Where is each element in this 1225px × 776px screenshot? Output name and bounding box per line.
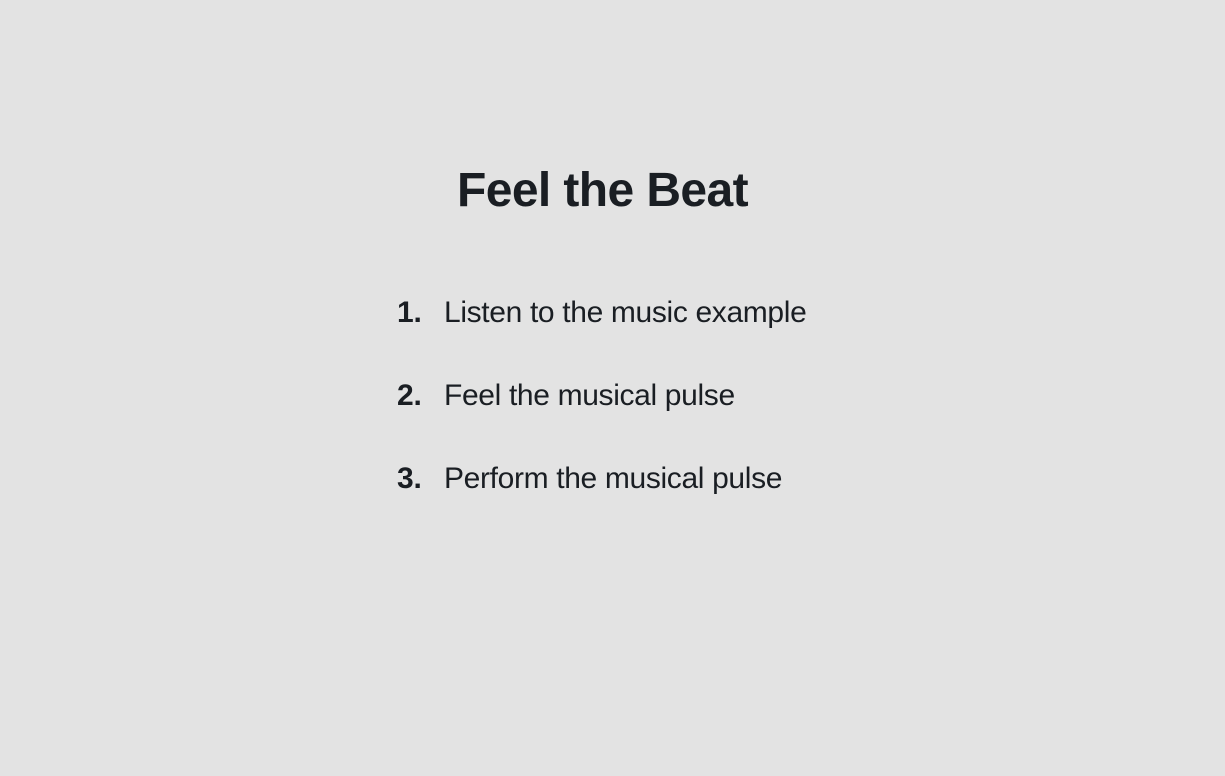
list-item: 3. Perform the musical pulse: [397, 459, 806, 498]
list-item-marker: 1.: [397, 293, 444, 332]
page-title: Feel the Beat: [0, 163, 1205, 220]
slide-canvas: Feel the Beat 1. Listen to the music exa…: [0, 0, 1225, 776]
steps-list: 1. Listen to the music example 2. Feel t…: [397, 293, 806, 498]
list-item-label: Perform the musical pulse: [444, 459, 782, 498]
list-item: 1. Listen to the music example: [397, 293, 806, 332]
list-item: 2. Feel the musical pulse: [397, 376, 806, 415]
list-item-marker: 2.: [397, 376, 444, 415]
list-item-label: Listen to the music example: [444, 293, 806, 332]
list-item-marker: 3.: [397, 459, 444, 498]
list-item-label: Feel the musical pulse: [444, 376, 735, 415]
